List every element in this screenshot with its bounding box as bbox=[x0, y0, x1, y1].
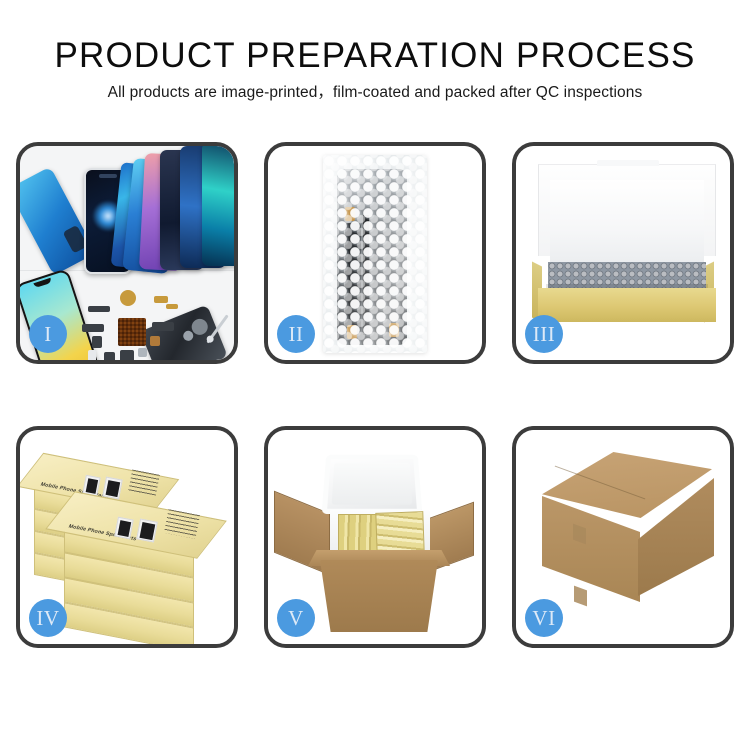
step-panel-6[interactable]: VI bbox=[512, 426, 734, 648]
part-camera bbox=[104, 352, 115, 360]
step-panel-5[interactable]: V bbox=[264, 426, 486, 648]
page-subtitle: All products are image-printed，film-coat… bbox=[0, 82, 750, 104]
step-badge-4: IV bbox=[29, 599, 67, 637]
part-sim-tray bbox=[88, 350, 96, 360]
part-button bbox=[138, 348, 147, 357]
box-front-panel-yellow bbox=[538, 288, 716, 322]
page-title: PRODUCT PREPARATION PROCESS bbox=[0, 34, 750, 78]
step-badge-2: II bbox=[277, 315, 315, 353]
part-vibrator bbox=[120, 350, 134, 360]
foam-box-lid bbox=[322, 455, 423, 514]
part-logic-board bbox=[118, 318, 146, 346]
step-badge-6: VI bbox=[525, 599, 563, 637]
step-panel-3[interactable]: III bbox=[512, 142, 734, 364]
part-speaker bbox=[120, 290, 136, 306]
step-panel-4[interactable]: Mobile Phone Spare Parts Mobile Phone Sp… bbox=[16, 426, 238, 648]
bubble-wrap-pouch bbox=[323, 155, 427, 353]
part-copper-shield bbox=[150, 336, 160, 346]
part-ribbon-left bbox=[82, 324, 104, 332]
product-preparation-infographic: PRODUCT PREPARATION PROCESS All products… bbox=[0, 0, 750, 750]
part-gold-flex bbox=[154, 296, 168, 303]
step-badge-5: V bbox=[277, 599, 315, 637]
packed-boxes-row-2 bbox=[375, 511, 424, 555]
part-gold-flex-2 bbox=[166, 304, 178, 309]
header: PRODUCT PREPARATION PROCESS All products… bbox=[0, 34, 750, 104]
part-ribbon-right bbox=[152, 322, 174, 331]
step-badge-3: III bbox=[525, 315, 563, 353]
step-badge-1: I bbox=[29, 315, 67, 353]
part-bar-black bbox=[88, 306, 110, 312]
plastic-sheen bbox=[323, 155, 427, 353]
phone-display-teal bbox=[202, 146, 234, 266]
foam-sheet bbox=[550, 180, 704, 262]
step-panel-2[interactable]: II bbox=[264, 142, 486, 364]
part-ic-1 bbox=[92, 336, 102, 348]
carton-body bbox=[320, 560, 438, 632]
step-panel-1[interactable]: I bbox=[16, 142, 238, 364]
steps-grid: I II bbox=[16, 142, 734, 670]
